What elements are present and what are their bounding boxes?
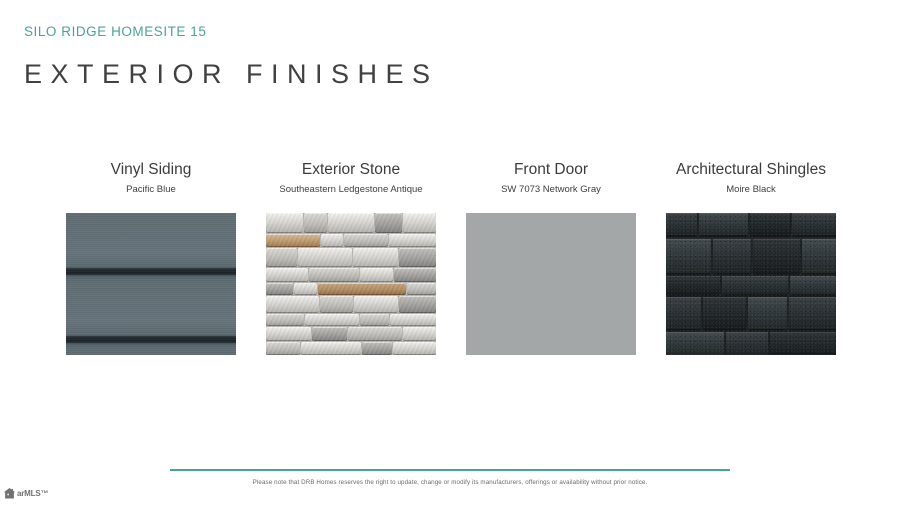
finish-swatch-exterior-stone	[266, 213, 436, 355]
house-icon	[3, 487, 16, 500]
finish-swatch-vinyl-siding	[66, 213, 236, 355]
finish-column-exterior-stone: Exterior Stone Southeastern Ledgestone A…	[251, 160, 451, 355]
finish-title: Vinyl Siding	[111, 160, 192, 179]
finish-swatch-front-door	[466, 213, 636, 355]
finish-column-vinyl-siding: Vinyl Siding Pacific Blue	[51, 160, 251, 355]
finish-selection: Southeastern Ledgestone Antique	[279, 184, 422, 196]
page-title: EXTERIOR FINISHES	[24, 59, 439, 90]
finish-title: Architectural Shingles	[676, 160, 826, 179]
finish-selection: Moire Black	[726, 184, 776, 196]
disclaimer-text: Please note that DRB Homes reserves the …	[0, 479, 900, 486]
footer-divider	[170, 469, 730, 471]
finish-selection: SW 7073 Network Gray	[501, 184, 601, 196]
finish-swatch-architectural-shingles	[666, 213, 836, 355]
community-eyebrow: SILO RIDGE HOMESITE 15	[24, 24, 206, 39]
mls-watermark: arMLS™	[3, 487, 48, 500]
finish-grid: Vinyl Siding Pacific Blue Exterior Stone…	[0, 160, 900, 355]
finish-column-architectural-shingles: Architectural Shingles Moire Black	[651, 160, 851, 355]
finish-column-front-door: Front Door SW 7073 Network Gray	[451, 160, 651, 355]
finish-selection: Pacific Blue	[126, 184, 176, 196]
mls-watermark-label: arMLS™	[17, 490, 48, 498]
finish-title: Front Door	[514, 160, 588, 179]
finish-title: Exterior Stone	[302, 160, 400, 179]
